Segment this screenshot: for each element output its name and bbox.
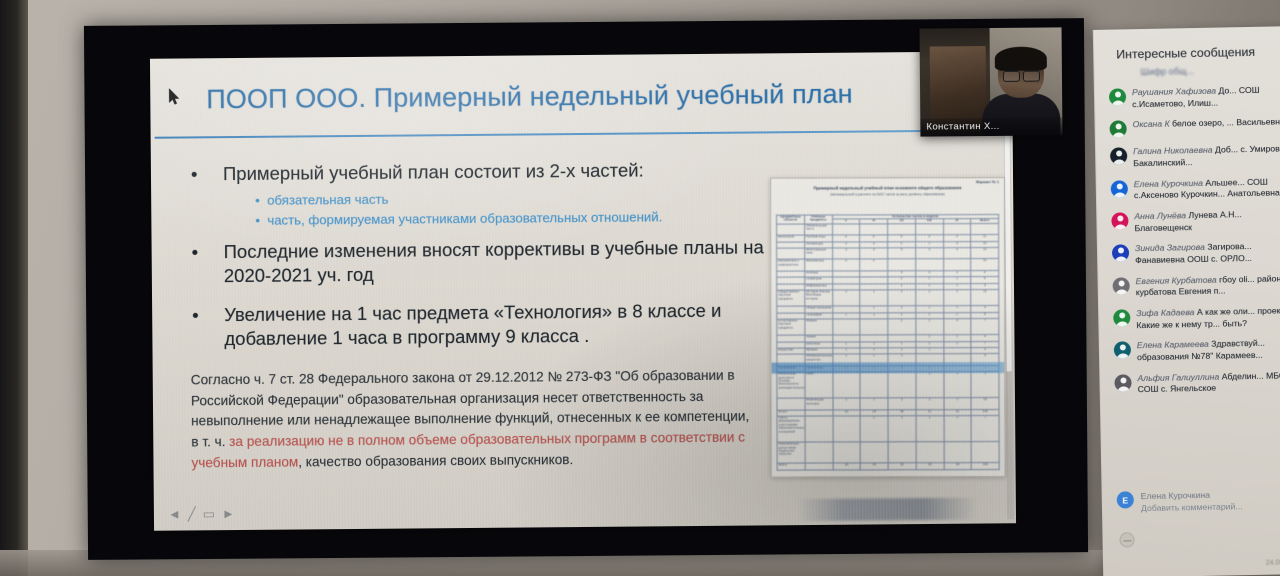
cell-subject: Математика bbox=[804, 259, 832, 270]
avatar bbox=[1112, 245, 1129, 262]
cell-ix bbox=[944, 442, 972, 463]
table-row: Изобразительное искусство1113 bbox=[777, 354, 999, 366]
cell-subject: Физика bbox=[805, 319, 833, 335]
slide-navigation-toolbar[interactable]: ◄ ╱ ▭ ► bbox=[168, 507, 235, 521]
cell-v: 28 bbox=[833, 463, 861, 470]
back-arrow-icon[interactable]: ◄ bbox=[168, 508, 181, 521]
bullet-text: Последние изменения вносят коррективы в … bbox=[224, 236, 764, 286]
bullet-item: •Последние изменения вносят коррективы в… bbox=[208, 235, 788, 289]
cell-vii bbox=[888, 224, 916, 235]
cell-ix: 2 bbox=[944, 416, 972, 442]
chat-message-author: Оксана К bbox=[1132, 119, 1172, 130]
chat-message-text: Раушания Хафизова До... СОШ с.Исаметово,… bbox=[1132, 84, 1280, 110]
cell-vii: 2 bbox=[888, 319, 916, 335]
cell-vii bbox=[888, 442, 916, 463]
forward-arrow-icon[interactable]: ► bbox=[222, 507, 235, 520]
comment-input[interactable]: Добавить комментарий... bbox=[1141, 501, 1243, 513]
cell-vi: 3 bbox=[860, 248, 888, 259]
avatar bbox=[1113, 309, 1130, 326]
cell-total: 10 bbox=[971, 259, 999, 270]
bullet-text: Увеличение на 1 час предмета «Технология… bbox=[224, 300, 721, 350]
chat-message-author: Альфия Галиуллина bbox=[1137, 371, 1221, 383]
chat-message-author: Елена Карамеева bbox=[1137, 339, 1212, 350]
cell-vi: 1 bbox=[860, 354, 888, 365]
chat-message-author: Зифа Кадаева bbox=[1136, 307, 1197, 318]
cell-ix bbox=[943, 259, 971, 270]
cell-total bbox=[971, 223, 999, 234]
chat-message-author: Раушания Хафизова bbox=[1132, 86, 1219, 98]
cell-viii bbox=[915, 259, 943, 270]
cell-vi bbox=[860, 224, 888, 235]
cell-area: Всего bbox=[777, 463, 805, 470]
cell-v: 5 bbox=[832, 259, 860, 270]
cell-area: Максимально допустимая недельная нагрузк… bbox=[777, 442, 805, 463]
composer-avatar: Е bbox=[1117, 491, 1134, 508]
note-text-part2: , качество образования своих выпускников… bbox=[298, 452, 573, 469]
cell-subject bbox=[805, 463, 833, 470]
table-variant-label: Вариант № 1 bbox=[976, 180, 999, 184]
cell-viii bbox=[915, 224, 943, 235]
chat-message[interactable]: Раушания Хафизова До... СОШ с.Исаметово,… bbox=[1109, 84, 1280, 111]
chat-message[interactable]: Елена Курочкина Альшее... СОШ с.Аксеново… bbox=[1111, 176, 1280, 203]
cell-vi: 5 bbox=[860, 259, 888, 270]
cell-area: Естественно-научные предметы bbox=[777, 319, 805, 335]
chat-message-author: Евгения Курбатова bbox=[1135, 274, 1219, 286]
table-heading: Примерный недельный учебный план основно… bbox=[771, 178, 1004, 192]
cell-vii bbox=[888, 259, 916, 270]
table-row: Обязательная часть bbox=[777, 223, 999, 235]
composer-user-name: Елена Курочкина bbox=[1141, 489, 1243, 501]
cell-vi: 2 bbox=[860, 398, 888, 409]
cell-total: 15 bbox=[971, 248, 999, 259]
table-row: Иностранный язык3333315 bbox=[777, 248, 999, 260]
avatar bbox=[1114, 374, 1131, 391]
cell-viii: 2 bbox=[916, 319, 944, 335]
table-body: Обязательная частьФилологияРусский язык5… bbox=[777, 223, 1000, 470]
cell-area bbox=[777, 224, 805, 235]
cell-viii: 2 bbox=[916, 416, 944, 442]
cell-ix: 3 bbox=[943, 248, 971, 259]
cell-vi bbox=[860, 372, 888, 398]
cell-viii: 33 bbox=[916, 463, 944, 470]
title-divider bbox=[155, 129, 1009, 138]
cell-ix bbox=[943, 224, 971, 235]
cell-viii: 1 bbox=[916, 372, 944, 398]
avatar bbox=[1109, 88, 1126, 105]
cell-ix: 1 bbox=[943, 372, 971, 398]
cell-total: 7 bbox=[971, 416, 999, 442]
chat-message-body: белое озеро, ... Васильевна bbox=[1172, 117, 1280, 129]
table-col-area: Предметные области bbox=[777, 215, 805, 224]
cell-v bbox=[832, 372, 860, 398]
cell-v bbox=[833, 442, 861, 463]
chat-message[interactable]: Оксана К белое озеро, ... Васильевна bbox=[1109, 116, 1280, 138]
table-row: Всего2830323333156 bbox=[777, 463, 999, 470]
chat-message-author: Зинида Загирова bbox=[1135, 242, 1208, 253]
sub-bullet-text: часть, формируемая участниками образоват… bbox=[267, 210, 662, 228]
chat-message-text: Альфия Галиуллина Абделин... МБОУ СОШ с.… bbox=[1137, 370, 1280, 396]
avatar bbox=[1110, 148, 1127, 165]
table-row: Математика и информатикаМатематика5510 bbox=[777, 259, 999, 271]
cell-area bbox=[777, 398, 805, 409]
bullet-item: •Примерный учебный план состоит из 2-х ч… bbox=[207, 157, 787, 186]
chat-message-text: Зинида Загирова Загирова... Фанавиевна О… bbox=[1135, 240, 1280, 266]
cell-viii bbox=[916, 442, 944, 463]
chat-collapse-icon[interactable] bbox=[1119, 532, 1134, 547]
chat-message[interactable]: Галина Николаевна Доб... с. Умирово, Бак… bbox=[1110, 143, 1280, 170]
chat-message-text: Зифа Кадаева А как же оли... проекты.?Ка… bbox=[1136, 305, 1280, 331]
table-col-subject: Учебные предметы bbox=[804, 215, 832, 224]
bullet-text: Примерный учебный план состоит из 2-х ча… bbox=[223, 159, 644, 184]
wall-shadow-left bbox=[0, 0, 28, 576]
cell-total: 7 bbox=[971, 319, 999, 335]
chat-message[interactable]: Елена Карамеева Здравствуй... образовани… bbox=[1114, 337, 1280, 364]
cell-ix: 2 bbox=[943, 290, 971, 306]
chat-message-text: Евгения Курбатова гбоу оli... района кур… bbox=[1135, 273, 1280, 299]
table-row: Физическая культура и Основы безопасност… bbox=[777, 372, 999, 399]
cell-vii: 2 bbox=[888, 398, 916, 409]
cell-viii: 3 bbox=[915, 248, 943, 259]
cell-ix: 3 bbox=[943, 319, 971, 335]
cell-total: 10 bbox=[971, 398, 999, 409]
cell-v bbox=[832, 224, 860, 235]
cell-total: 2 bbox=[971, 372, 999, 398]
chat-message-list[interactable]: Раушания Хафизова До... СОШ с.Исаметово,… bbox=[1109, 84, 1280, 405]
chat-message[interactable]: Анна Лунёва Лунева А.Н... Благовещенск bbox=[1111, 208, 1280, 235]
rectangle-icon[interactable]: ▭ bbox=[203, 507, 215, 520]
chat-message[interactable]: Альфия Галиуллина Абделин... МБОУ СОШ с.… bbox=[1114, 370, 1280, 397]
cell-vi bbox=[860, 319, 888, 335]
table-row: Естественно-научные предметыФизика2237 bbox=[777, 319, 999, 336]
cell-ix: 2 bbox=[944, 398, 972, 409]
chat-message[interactable]: Евгения Курбатова гбоу оli... района кур… bbox=[1112, 273, 1280, 300]
slide-bullet-list: •Примерный учебный план состоит из 2-х ч… bbox=[207, 157, 789, 357]
participant-video-tile[interactable]: Константин Х... bbox=[920, 27, 1063, 136]
cell-total: 3 bbox=[971, 354, 999, 365]
cell-ix: 33 bbox=[944, 463, 972, 470]
cell-subject: Иностранный язык bbox=[804, 248, 832, 259]
cell-subject: История России. Всеобщая история bbox=[804, 290, 832, 306]
person-hair bbox=[995, 47, 1047, 71]
mouse-cursor-icon bbox=[168, 89, 180, 106]
chat-message[interactable]: Зифа Кадаева А как же оли... проекты.?Ка… bbox=[1113, 305, 1280, 332]
cell-vii: 2 bbox=[888, 290, 916, 306]
cell-area: Часть, формируемая участниками образоват… bbox=[777, 416, 805, 442]
table-row: Часть, формируемая участниками образоват… bbox=[777, 416, 999, 443]
table-row: Физическая культура2222210 bbox=[777, 398, 999, 410]
monitor-photo-scene: ПООП ООО. Примерный недельный учебный пл… bbox=[0, 0, 1280, 576]
chat-message-text: Анна Лунёва Лунева А.Н... Благовещенск bbox=[1134, 208, 1280, 234]
chat-message-author: Елена Курочкина bbox=[1134, 177, 1206, 188]
slide-canvas: ПООП ООО. Примерный недельный учебный пл… bbox=[150, 51, 1016, 531]
cell-subject: Физическая культура bbox=[805, 398, 833, 409]
chat-message-text: Елена Курочкина Альшее... СОШ с.Аксеново… bbox=[1134, 176, 1280, 202]
participant-name-label: Константин Х... bbox=[920, 117, 1062, 136]
slide-legal-note: Согласно ч. 7 ст. 28 Федерального закона… bbox=[191, 366, 752, 474]
chat-message-text: Елена Карамеева Здравствуй... образовани… bbox=[1137, 337, 1280, 363]
cell-vi: 2 bbox=[860, 290, 888, 306]
chat-panel-title: Интересные сообщения bbox=[1116, 45, 1255, 62]
table-row: Максимально допустимая недельная нагрузк… bbox=[777, 442, 999, 464]
table-subheading: (минимальный в расчете на 5267 часов за … bbox=[771, 191, 1004, 201]
table-row: Общественно-научные предметыИстория Росс… bbox=[777, 289, 999, 306]
cell-v: 3 bbox=[832, 248, 860, 259]
cell-subject: ОБЖ bbox=[805, 372, 833, 398]
cell-total: 10 bbox=[971, 289, 999, 305]
cell-vi: 30 bbox=[860, 463, 888, 470]
cell-area: Общественно-научные предметы bbox=[777, 290, 805, 306]
cell-vi bbox=[860, 442, 888, 463]
person-glasses-icon bbox=[1003, 70, 1040, 79]
chat-message[interactable]: Зинида Загирова Загирова... Фанавиевна О… bbox=[1112, 240, 1280, 267]
cell-vii: 2 bbox=[888, 416, 916, 442]
slide-bottom-watermark bbox=[798, 498, 978, 522]
cell-v bbox=[833, 416, 861, 442]
cell-viii bbox=[916, 354, 944, 365]
chat-message-author: Галина Николаевна bbox=[1133, 145, 1215, 157]
chat-pinned-message: Шифр общ... bbox=[1140, 65, 1270, 81]
chat-timestamp: 24.05.20 bbox=[1266, 559, 1280, 567]
cell-vii: 32 bbox=[888, 463, 916, 470]
cell-viii: 2 bbox=[915, 290, 943, 306]
cell-subject: Обязательная часть bbox=[804, 224, 832, 235]
cell-total bbox=[971, 442, 999, 463]
chat-message-text: Галина Николаевна Доб... с. Умирово, Бак… bbox=[1133, 143, 1280, 169]
cell-vii bbox=[888, 372, 916, 398]
cell-area bbox=[777, 355, 805, 366]
cell-vii: 3 bbox=[888, 248, 916, 259]
cell-area: Физическая культура и Основы безопасност… bbox=[777, 372, 805, 398]
cell-subject bbox=[805, 442, 833, 463]
avatar bbox=[1114, 341, 1131, 358]
avatar bbox=[1110, 121, 1127, 138]
cell-v: 2 bbox=[833, 398, 861, 409]
cell-v bbox=[832, 319, 860, 335]
cell-subject: Изобразительное искусство bbox=[805, 354, 833, 365]
pen-icon[interactable]: ╱ bbox=[188, 507, 196, 520]
chat-composer[interactable]: Елена Курочкина Добавить комментарий... … bbox=[1117, 489, 1243, 513]
embedded-curriculum-table-image: Вариант № 1 Примерный недельный учебный … bbox=[770, 177, 1006, 478]
chat-message-author: Анна Лунёва bbox=[1134, 210, 1188, 221]
slide-title: ПООП ООО. Примерный недельный учебный пл… bbox=[206, 78, 972, 116]
presentation-slide-area[interactable]: ПООП ООО. Примерный недельный учебный пл… bbox=[150, 51, 1016, 531]
cell-v: 1 bbox=[832, 354, 860, 365]
chat-sidebar[interactable]: Интересные сообщения Шифр общ... Раушани… bbox=[1093, 26, 1280, 576]
cell-v: 2 bbox=[832, 290, 860, 306]
avatar bbox=[1113, 277, 1130, 294]
sub-bullet-list: • обязательная часть • часть, формируема… bbox=[255, 187, 787, 231]
cell-vi: 1 bbox=[860, 416, 888, 442]
chat-message-text: Оксана К белое озеро, ... Васильевна bbox=[1132, 116, 1280, 137]
bullet-item: •Увеличение на 1 час предмета «Технологи… bbox=[208, 298, 788, 352]
cell-ix bbox=[943, 354, 971, 365]
cell-area: Математика и информатика bbox=[777, 259, 805, 270]
cell-viii: 2 bbox=[916, 398, 944, 409]
cell-vii: 1 bbox=[888, 354, 916, 365]
avatar bbox=[1111, 180, 1128, 197]
sub-bullet-text: обязательная часть bbox=[267, 192, 388, 208]
cell-subject bbox=[805, 416, 833, 442]
cell-area bbox=[777, 248, 805, 259]
cell-total: 156 bbox=[971, 463, 999, 470]
table-grid: Предметные области Учебные предметы Коли… bbox=[776, 214, 1000, 471]
avatar bbox=[1111, 212, 1128, 229]
